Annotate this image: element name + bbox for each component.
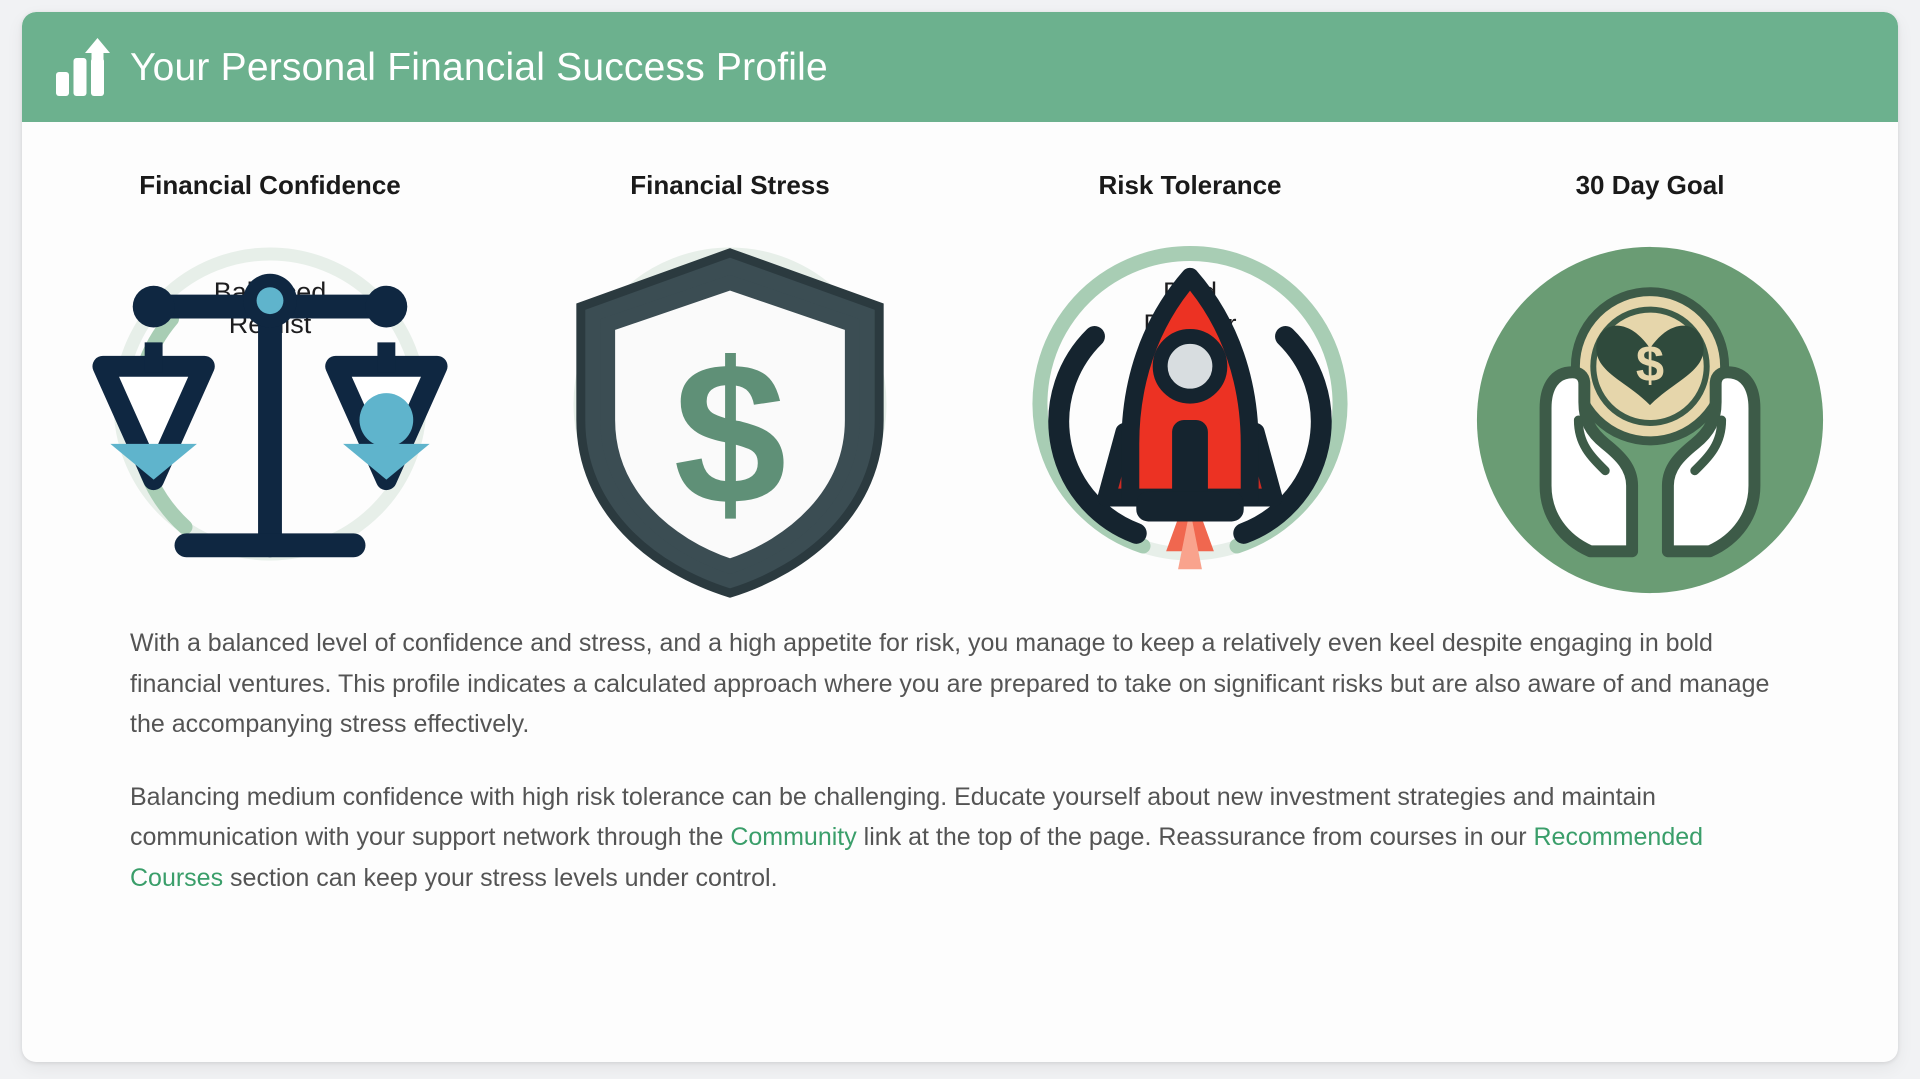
hands-holding-coin-icon: $ <box>1465 235 1835 605</box>
gauge-center: Better Money Relationship $ <box>1465 219 1835 589</box>
gauge-ring: Better Money Relationship $ <box>1465 219 1835 589</box>
svg-text:$: $ <box>674 320 787 547</box>
shield-dollar-icon: $ <box>545 235 915 605</box>
gauge-title: Financial Stress <box>630 170 829 201</box>
summary-paragraph-1: With a balanced level of confidence and … <box>130 623 1790 745</box>
gauge-ring: Capital Caution $ <box>545 219 915 589</box>
svg-text:$: $ <box>1636 335 1664 392</box>
gauge-title: 30 Day Goal <box>1576 170 1725 201</box>
page-title: Your Personal Financial Success Profile <box>130 48 828 87</box>
gauge-ring: Balanced Realist <box>85 219 455 589</box>
gauge-row: Financial Confidence Balanced Realist <box>22 122 1898 589</box>
gauge-center: Balanced Realist <box>85 219 455 589</box>
gauge-risk-tolerance: Risk Tolerance Bold Pioneer <box>1000 170 1380 589</box>
gauge-ring: Bold Pioneer <box>1005 219 1375 589</box>
rocket-icon <box>1005 235 1375 605</box>
balance-scale-icon <box>85 235 455 605</box>
bar-chart-arrow-up-icon <box>56 38 110 96</box>
gauge-financial-confidence: Financial Confidence Balanced Realist <box>80 170 460 589</box>
app-root: Your Personal Financial Success Profile … <box>0 0 1920 1079</box>
gauge-financial-stress: Financial Stress Capital Caution $ <box>540 170 920 589</box>
gauge-30-day-goal: 30 Day Goal Better Money Relationship <box>1460 170 1840 589</box>
paragraph2-text-part2: link at the top of the page. Reassurance… <box>857 823 1534 851</box>
gauge-center: Capital Caution $ <box>545 219 915 589</box>
summary-paragraph-2: Balancing medium confidence with high ri… <box>130 777 1790 899</box>
gauge-title: Risk Tolerance <box>1098 170 1281 201</box>
gauge-center: Bold Pioneer <box>1005 219 1375 589</box>
gauge-title: Financial Confidence <box>139 170 401 201</box>
card-header: Your Personal Financial Success Profile <box>22 12 1898 122</box>
financial-profile-card: Your Personal Financial Success Profile … <box>22 12 1898 1062</box>
paragraph2-text-part3: section can keep your stress levels unde… <box>223 864 777 892</box>
profile-summary: With a balanced level of confidence and … <box>22 589 1898 898</box>
community-link[interactable]: Community <box>730 823 856 851</box>
